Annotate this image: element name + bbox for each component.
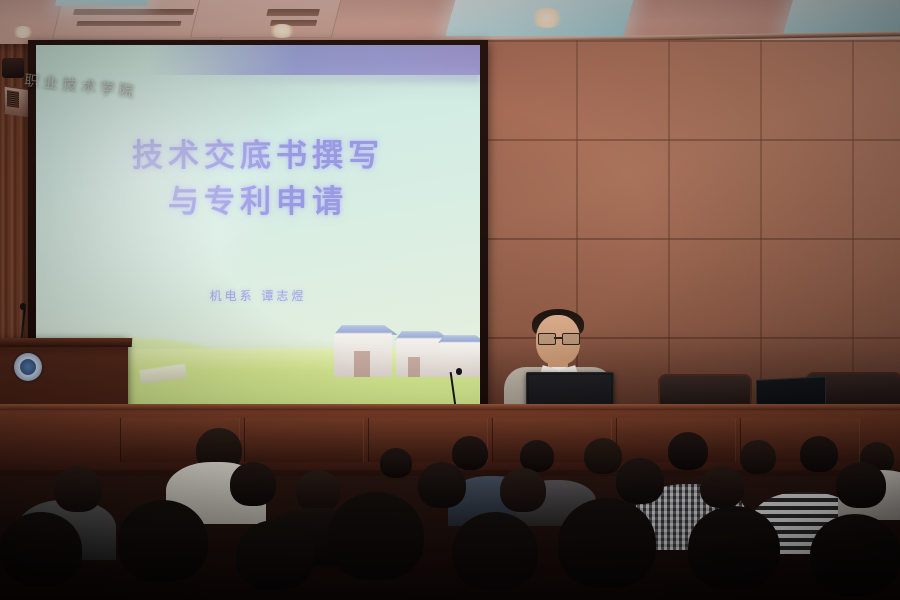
audience-head: [0, 512, 82, 586]
audience-head: [54, 466, 102, 512]
audience-head: [380, 448, 412, 478]
audience-head: [688, 506, 780, 590]
audience-head: [452, 436, 488, 470]
audience-head: [418, 462, 466, 508]
ceiling-light-panel-3: [55, 0, 154, 6]
audience-head: [800, 436, 838, 472]
audience-head: [230, 462, 276, 506]
audience-head: [452, 512, 538, 590]
audience-head: [584, 438, 622, 474]
ceiling-light-panel-1: [445, 0, 637, 36]
slide-building-door-1: [354, 351, 370, 377]
audience-head: [700, 466, 744, 508]
ceiling-downlight-2: [530, 8, 564, 28]
audience-head: [328, 492, 424, 580]
college-seal-icon: [14, 353, 42, 381]
audience-head: [500, 468, 546, 512]
audience-head: [616, 458, 664, 504]
podium-microphone-head: [20, 303, 26, 310]
audience-head: [740, 440, 776, 474]
slide-building-2: [396, 338, 444, 377]
desk-microphone-head: [456, 368, 462, 375]
audience-head: [836, 462, 886, 508]
ceiling-ac-unit-1: [52, 0, 234, 40]
audience-head: [118, 500, 208, 582]
audience-head: [558, 498, 656, 588]
audience-head: [296, 470, 340, 512]
lecture-hall-photo: 技术交底书撰写 与专利申请 机电系 谭志煜 职业技术学院: [0, 0, 900, 600]
projector-mount-icon: [2, 58, 24, 78]
ceiling-downlight-1: [268, 24, 296, 38]
ceiling-ac-unit-2: [190, 0, 344, 38]
slide-building-door-2: [408, 357, 420, 377]
ceiling-downlight-3: [12, 26, 34, 38]
audience-head: [668, 432, 708, 470]
podium-top-surface: [0, 338, 132, 347]
audience-head: [236, 520, 314, 590]
eyeglasses-icon: [538, 333, 578, 343]
audience-head: [810, 514, 900, 596]
